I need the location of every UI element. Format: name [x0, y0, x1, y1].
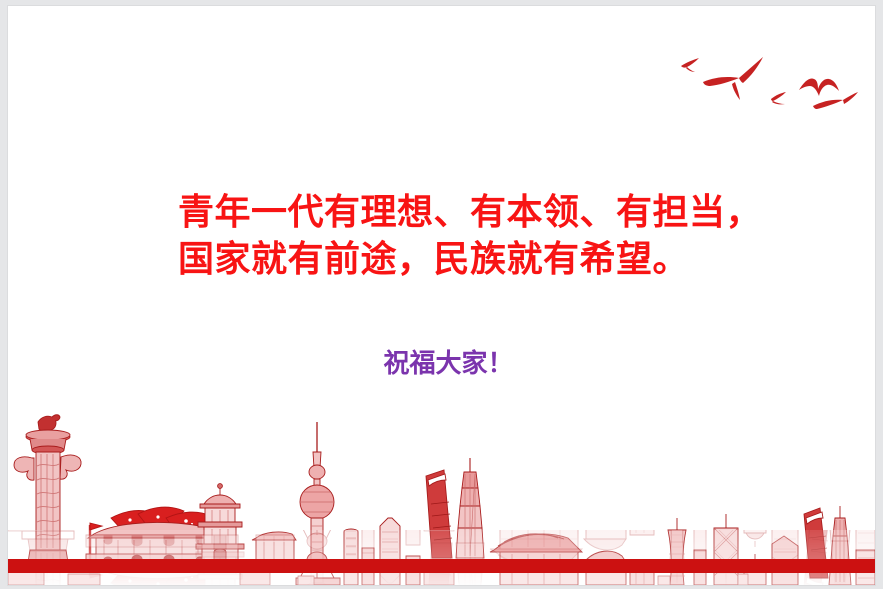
subtitle-text-block: 祝福大家！ [8, 346, 875, 382]
red-accent-band [8, 559, 875, 573]
subtitle-text: 祝福大家！ [369, 346, 513, 382]
slide-canvas: 青年一代有理想、有本领、有担当， 国家就有前途，民族就有希望。 祝福大家！ [8, 6, 875, 585]
headline-line-1: 青年一代有理想、有本领、有担当， [178, 189, 778, 236]
headline-line-2: 国家就有前途，民族就有希望。 [178, 236, 778, 283]
presentation-slide: 青年一代有理想、有本领、有担当， 国家就有前途，民族就有希望。 祝福大家！ [0, 0, 883, 589]
flying-birds-decoration [673, 44, 873, 114]
headline-text-block: 青年一代有理想、有本领、有担当， 国家就有前途，民族就有希望。 [178, 189, 778, 283]
birds-icon [673, 44, 873, 114]
